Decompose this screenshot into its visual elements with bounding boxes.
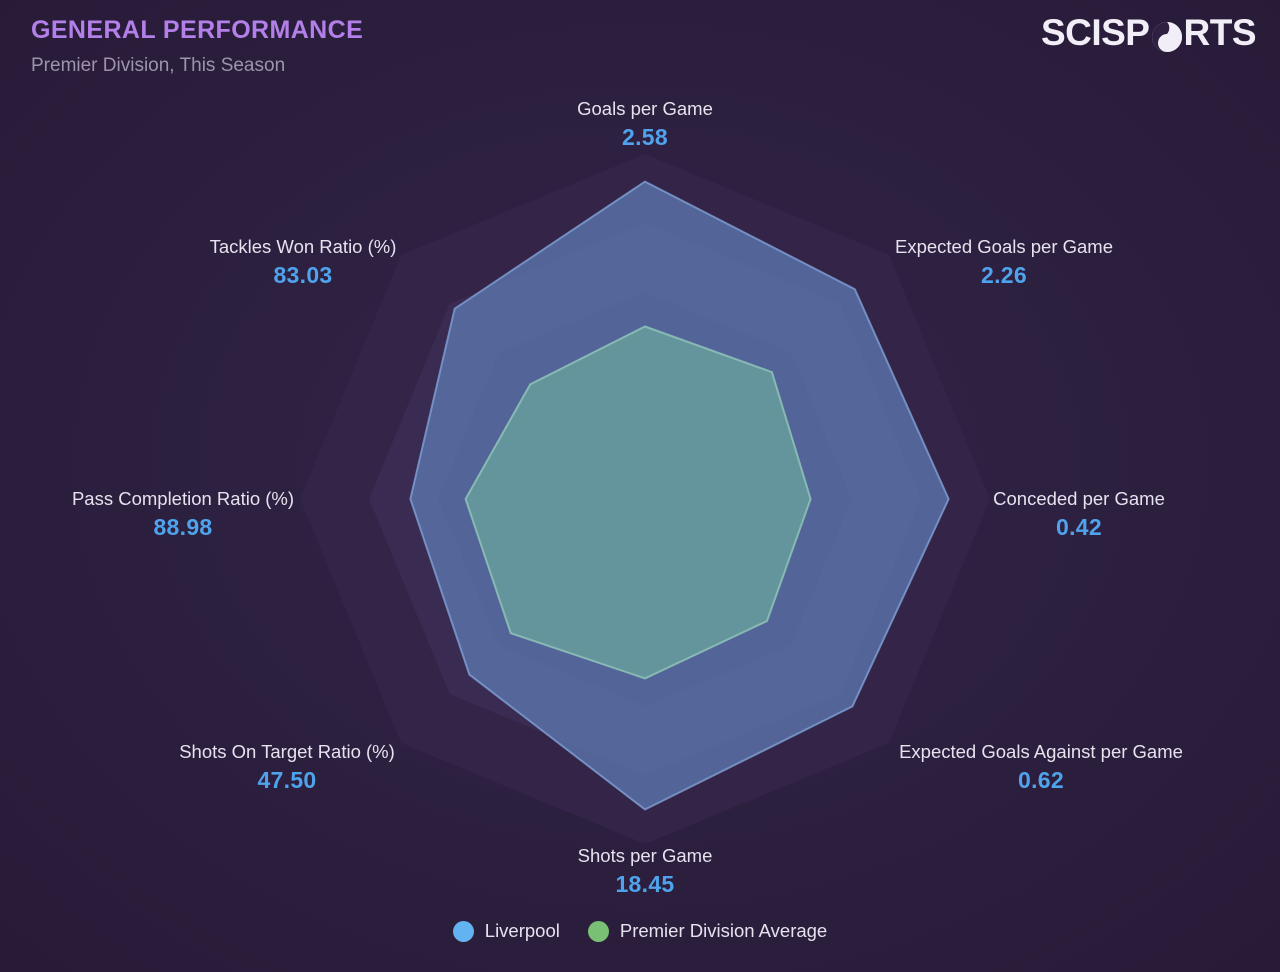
chart-page: GENERAL PERFORMANCE Premier Division, Th… <box>0 0 1280 972</box>
legend: Liverpool Premier Division Average <box>0 920 1280 942</box>
axis-label-3: Expected Goals Against per Game0.62 <box>899 739 1183 795</box>
legend-label-liverpool: Liverpool <box>485 920 560 942</box>
legend-item-liverpool[interactable]: Liverpool <box>453 920 560 942</box>
axis-name-3: Expected Goals Against per Game <box>899 739 1183 765</box>
axis-value-0: 2.58 <box>577 122 713 152</box>
axis-name-1: Expected Goals per Game <box>895 234 1113 260</box>
legend-swatch-average <box>588 921 609 942</box>
axis-value-5: 47.50 <box>179 765 395 795</box>
axis-value-7: 83.03 <box>210 260 397 290</box>
axis-value-2: 0.42 <box>993 512 1165 542</box>
axis-name-2: Conceded per Game <box>993 486 1165 512</box>
axis-name-6: Pass Completion Ratio (%) <box>72 486 294 512</box>
axis-value-1: 2.26 <box>895 260 1113 290</box>
axis-name-4: Shots per Game <box>578 843 713 869</box>
axis-value-6: 88.98 <box>72 512 294 542</box>
axis-label-1: Expected Goals per Game2.26 <box>895 234 1113 290</box>
axis-value-4: 18.45 <box>578 869 713 899</box>
axis-label-5: Shots On Target Ratio (%)47.50 <box>179 739 395 795</box>
axis-label-6: Pass Completion Ratio (%)88.98 <box>72 486 294 542</box>
axis-label-2: Conceded per Game0.42 <box>993 486 1165 542</box>
axis-value-3: 0.62 <box>899 765 1183 795</box>
axis-name-0: Goals per Game <box>577 96 713 122</box>
legend-swatch-liverpool <box>453 921 474 942</box>
legend-label-average: Premier Division Average <box>620 920 827 942</box>
axis-label-7: Tackles Won Ratio (%)83.03 <box>210 234 397 290</box>
axis-name-5: Shots On Target Ratio (%) <box>179 739 395 765</box>
axis-label-0: Goals per Game2.58 <box>577 96 713 152</box>
legend-item-average[interactable]: Premier Division Average <box>588 920 827 942</box>
axis-label-4: Shots per Game18.45 <box>578 843 713 899</box>
axis-name-7: Tackles Won Ratio (%) <box>210 234 397 260</box>
